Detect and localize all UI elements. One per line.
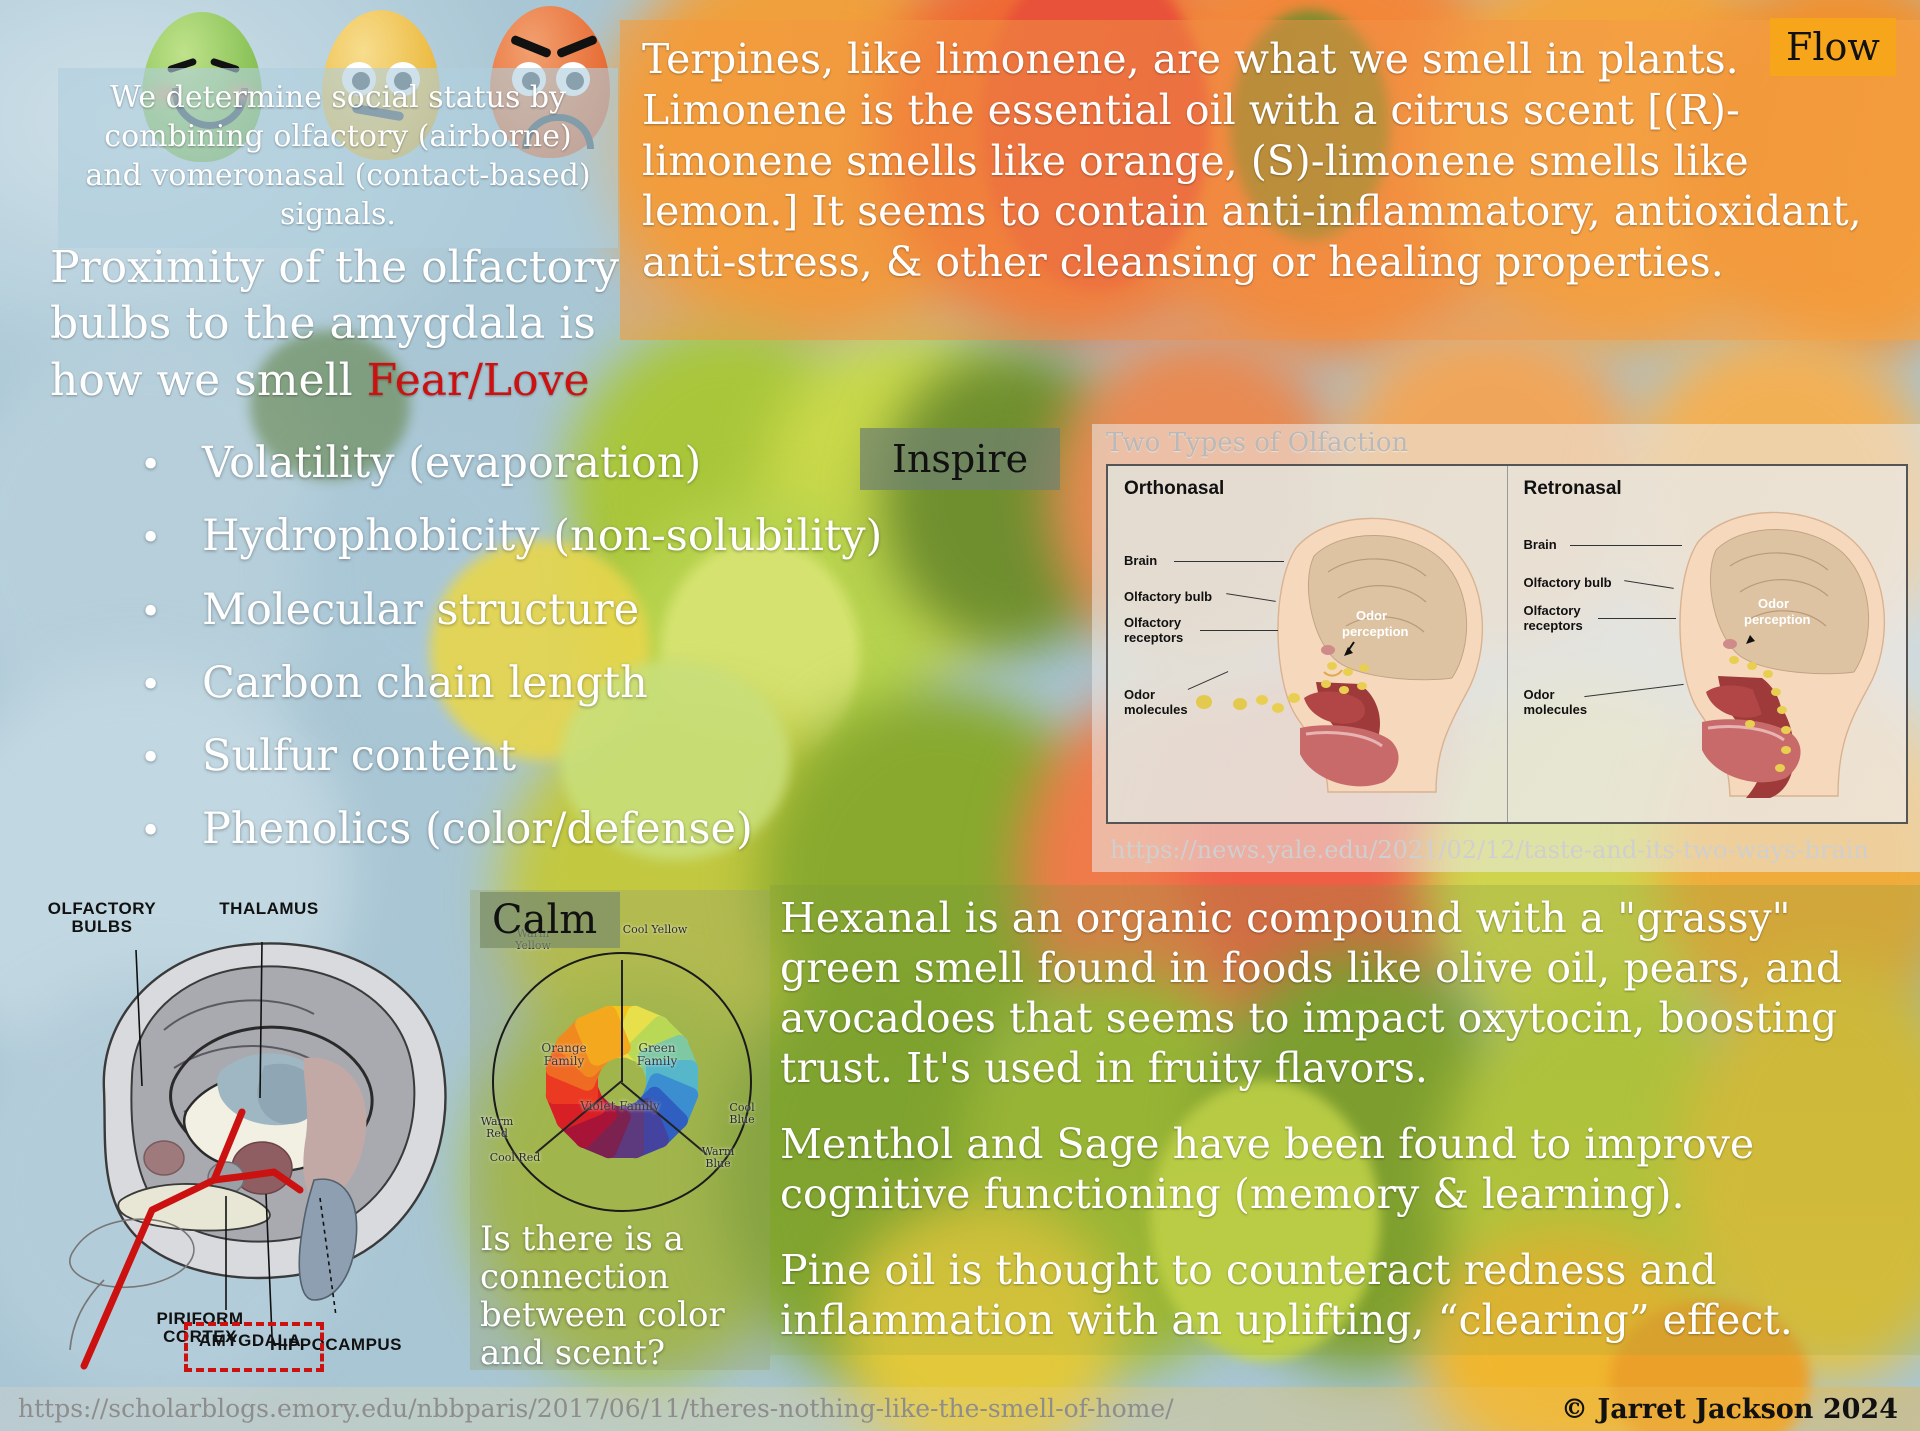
footer-source-url[interactable]: https://scholarblogs.emory.edu/nbbparis/… bbox=[18, 1394, 1174, 1423]
list-item: • Volatility (evaporation) bbox=[140, 440, 960, 487]
wheel-label-warm-blue: Warm Blue bbox=[692, 1146, 744, 1170]
list-item-label: Hydrophobicity (non-solubility) bbox=[202, 513, 882, 560]
wheel-label-cool-red: Cool Red bbox=[488, 1152, 542, 1164]
bullet-icon: • bbox=[140, 666, 202, 706]
proximity-headline: Proximity of the olfactory bulbs to the … bbox=[50, 240, 650, 409]
panel-retronasal: Retronasal bbox=[1507, 466, 1907, 822]
svg-text:perception: perception bbox=[1744, 612, 1811, 627]
head-anatomy-illustration: Odor perception bbox=[1178, 502, 1508, 802]
copyright-notice: © Jarret Jackson 2024 bbox=[1561, 1394, 1898, 1425]
list-item-label: Carbon chain length bbox=[202, 660, 648, 707]
list-item-label: Molecular structure bbox=[202, 587, 639, 634]
wheel-label-cool-yellow: Cool Yellow bbox=[620, 924, 690, 936]
list-item: • Hydrophobicity (non-solubility) bbox=[140, 513, 960, 560]
label-olfactory-bulb: Olfactory bulb bbox=[1524, 576, 1612, 591]
figure-title: Two Types of Olfaction bbox=[1106, 428, 1408, 458]
wheel-label-warm-red: Warm Red bbox=[470, 1116, 524, 1140]
scent-properties-list: • Volatility (evaporation) • Hydrophobic… bbox=[140, 440, 960, 880]
scent-note-paragraph: Menthol and Sage have been found to impr… bbox=[780, 1119, 1902, 1219]
wheel-label-cool-blue: Cool Blue bbox=[716, 1102, 768, 1126]
list-item-label: Volatility (evaporation) bbox=[202, 440, 701, 487]
list-item: • Sulfur content bbox=[140, 733, 960, 780]
badge-inspire[interactable]: Inspire bbox=[860, 428, 1060, 490]
label-brain: Brain bbox=[1524, 538, 1557, 553]
svg-text:Odor: Odor bbox=[1356, 608, 1387, 623]
wheel-label-green-family: Green Family bbox=[622, 1042, 692, 1068]
poster-canvas: We determine social status by combining … bbox=[0, 0, 1920, 1431]
wheel-label-orange-family: Orange Family bbox=[528, 1042, 600, 1068]
label-odor-molecules: Odor molecules bbox=[1124, 688, 1198, 718]
label-olfactory-bulb: Olfactory bulb bbox=[1124, 590, 1212, 605]
scent-notes-block: Hexanal is an organic compound with a "g… bbox=[770, 885, 1920, 1355]
brain-anatomy-figure: OLFACTORY BULBS THALAMUS PIRIFORM CORTEX… bbox=[14, 880, 494, 1380]
color-wheel-graphic bbox=[492, 952, 752, 1212]
panel-orthonasal: Orthonasal bbox=[1108, 466, 1507, 822]
list-item: • Carbon chain length bbox=[140, 660, 960, 707]
olfaction-figure: Two Types of Olfaction Orthonasal bbox=[1092, 424, 1920, 872]
badge-flow[interactable]: Flow bbox=[1770, 18, 1896, 76]
fear-love-highlight: Fear/Love bbox=[367, 355, 590, 406]
scent-note-paragraph: Hexanal is an organic compound with a "g… bbox=[780, 893, 1902, 1093]
label-odor-molecules: Odor molecules bbox=[1524, 688, 1598, 718]
panel-title: Orthonasal bbox=[1124, 478, 1224, 500]
bullet-icon: • bbox=[140, 446, 202, 486]
list-item: • Phenolics (color/defense) bbox=[140, 806, 960, 853]
brain-label-thalamus: THALAMUS bbox=[204, 900, 334, 918]
list-item-label: Sulfur content bbox=[202, 733, 516, 780]
label-olfactory-receptors: Olfactory receptors bbox=[1124, 616, 1204, 646]
label-olfactory-receptors: Olfactory receptors bbox=[1524, 604, 1604, 634]
svg-text:perception: perception bbox=[1342, 624, 1409, 639]
list-item: • Molecular structure bbox=[140, 587, 960, 634]
limonene-text-block: Terpines, like limonene, are what we sme… bbox=[620, 20, 1920, 340]
scent-note-paragraph: Pine oil is thought to counteract rednes… bbox=[780, 1245, 1902, 1345]
svg-text:Odor: Odor bbox=[1758, 596, 1789, 611]
head-anatomy-illustration: Odor perception bbox=[1580, 496, 1910, 806]
list-item-label: Phenolics (color/defense) bbox=[202, 806, 753, 853]
figure-frame: Orthonasal bbox=[1106, 464, 1908, 824]
label-brain: Brain bbox=[1124, 554, 1157, 569]
figure-source-url: https://news.yale.edu/2021/02/12/taste-a… bbox=[1110, 836, 1869, 864]
bullet-icon: • bbox=[140, 519, 202, 559]
wheel-label-violet-family: Violet Family bbox=[570, 1100, 670, 1113]
brain-illustration bbox=[14, 880, 494, 1380]
color-scent-question: Is there is a connection between color a… bbox=[480, 1220, 762, 1372]
badge-calm[interactable]: Calm bbox=[480, 892, 620, 948]
bullet-icon: • bbox=[140, 739, 202, 779]
brain-label-olfactory-bulbs: OLFACTORY BULBS bbox=[32, 900, 172, 936]
brain-label-amygdala: AMYGDALA bbox=[190, 1332, 310, 1350]
social-status-caption: We determine social status by combining … bbox=[58, 68, 618, 248]
bullet-icon: • bbox=[140, 593, 202, 633]
bullet-icon: • bbox=[140, 812, 202, 852]
color-wheel-figure: Warm Yellow Cool Yellow Orange Family Gr… bbox=[470, 890, 770, 1370]
